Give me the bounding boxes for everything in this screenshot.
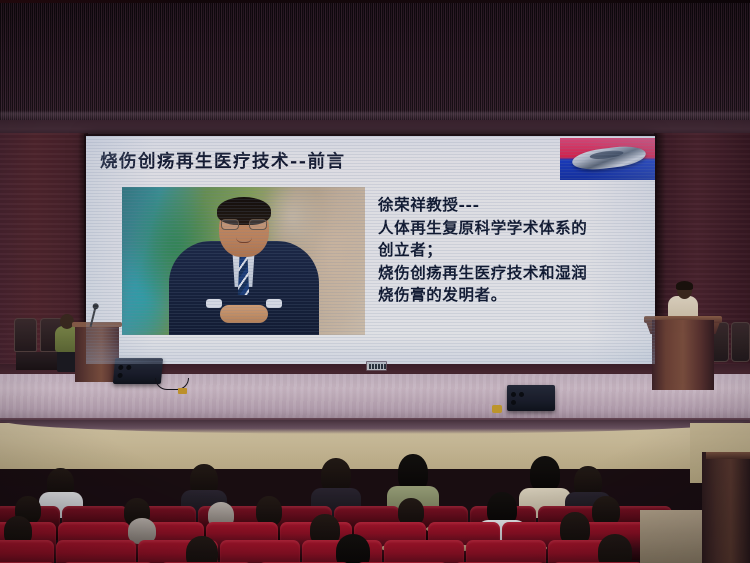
audience-area: 姓 名 姓 名 姓 名 姓 名 姓 名 [0,440,750,563]
portrait-clasped-hands [220,305,268,323]
right-side-rail [702,452,750,563]
wall-control-panel[interactable] [366,361,387,371]
operator-desk-top [72,322,122,327]
operator-desk [75,324,119,382]
slide-body-text: 徐荣祥教授--- 人体再生复原科学学术体系的 创立者； 烧伤创疡再生医疗技术和湿… [378,194,650,307]
slide-body-line-4: 烧伤创疡再生医疗技术和湿润 [378,262,650,285]
slide-corner-logo-icon [560,138,655,180]
presenter-hair [676,281,693,290]
conference-hall-scene: 烧伤创疡再生医疗技术--前言 徐荣祥教授--- 人体再生复原科学学术体系的 创立… [0,0,750,563]
logo-vehicle-shape [571,144,647,173]
podium [652,320,714,390]
projection-screen[interactable]: 烧伤创疡再生医疗技术--前言 徐荣祥教授--- 人体再生复原科学学术体系的 创立… [86,136,655,364]
slide-body-line-5: 烧伤膏的发明者。 [378,284,650,307]
auditorium-seat[interactable] [220,540,300,563]
auditorium-seat[interactable] [384,540,464,563]
slide-body-line-3: 创立者； [378,239,650,262]
ceiling-trim [0,0,750,3]
slide-title: 烧伤创疡再生医疗技术--前言 [100,148,346,173]
attendee-head [530,456,560,492]
operator-legs [57,350,77,372]
portrait-cuff-right [266,299,282,308]
stage-monitor-right [507,385,555,411]
slide-body-line-2: 人体再生复原科学学术体系的 [378,217,650,240]
auditorium-seat[interactable] [0,540,54,563]
portrait-glasses-icon [221,219,267,230]
slide-portrait-photo [122,187,365,335]
portrait-cuff-left [206,299,222,308]
attendee-head [186,536,218,563]
slide-body-line-1: 徐荣祥教授--- [378,194,650,217]
right-aisle-floor [640,510,710,563]
attendee-head [336,534,370,563]
auditorium-seat[interactable] [466,540,546,563]
attendee-head [598,534,632,563]
cable-plug-left [178,388,187,394]
auditorium-seat[interactable] [56,540,136,563]
cable-plug-right [492,405,502,413]
